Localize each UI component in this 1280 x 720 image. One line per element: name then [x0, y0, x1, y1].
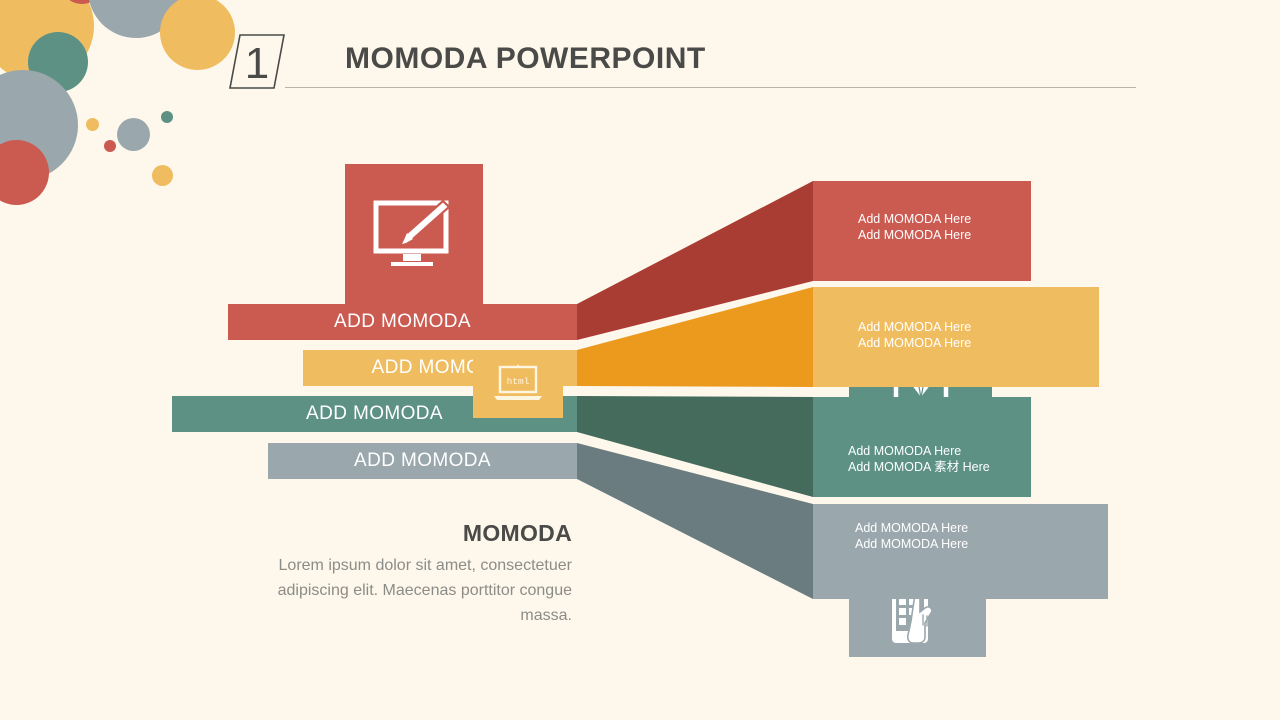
- step-bar-4[interactable]: ADD MOMODA: [268, 443, 577, 479]
- body-heading: MOMODA: [250, 520, 572, 547]
- page-title: MOMODA POWERPOINT: [345, 42, 706, 76]
- svg-text:html: html: [507, 376, 530, 387]
- icon-box-2[interactable]: html: [473, 350, 563, 418]
- body-paragraph: Lorem ipsum dolor sit amet, consectetuer…: [250, 553, 572, 628]
- icon-box-1[interactable]: [345, 164, 483, 304]
- detail-panel-1[interactable]: Add MOMODA Here Add MOMODA Here: [813, 181, 1031, 281]
- slide-canvas: 1 MOMODA POWERPOINT ADD MOMODA ADD MOMOD…: [0, 0, 1280, 720]
- monitor-paintbrush-icon: [373, 200, 455, 268]
- step-bar-1[interactable]: ADD MOMODA: [228, 304, 577, 340]
- step-number-badge: 1: [228, 33, 286, 90]
- step-number-text: 1: [245, 39, 269, 88]
- laptop-html-icon: html: [491, 363, 545, 405]
- detail-panel-3[interactable]: Add MOMODA Here Add MOMODA 素材 Here: [813, 397, 1031, 497]
- body-text-block: MOMODA Lorem ipsum dolor sit amet, conse…: [250, 520, 572, 628]
- slide-header: 1 MOMODA POWERPOINT: [0, 0, 1280, 110]
- detail-panel-4[interactable]: Add MOMODA Here Add MOMODA Here: [813, 504, 1108, 599]
- detail-panel-2[interactable]: Add MOMODA Here Add MOMODA Here: [813, 287, 1099, 387]
- detail-panel-1-text: Add MOMODA Here Add MOMODA Here: [858, 211, 971, 243]
- title-divider: [285, 87, 1136, 88]
- detail-panel-3-text: Add MOMODA Here Add MOMODA 素材 Here: [848, 443, 990, 475]
- detail-panel-4-text: Add MOMODA Here Add MOMODA Here: [855, 520, 968, 552]
- detail-panel-2-text: Add MOMODA Here Add MOMODA Here: [858, 319, 971, 351]
